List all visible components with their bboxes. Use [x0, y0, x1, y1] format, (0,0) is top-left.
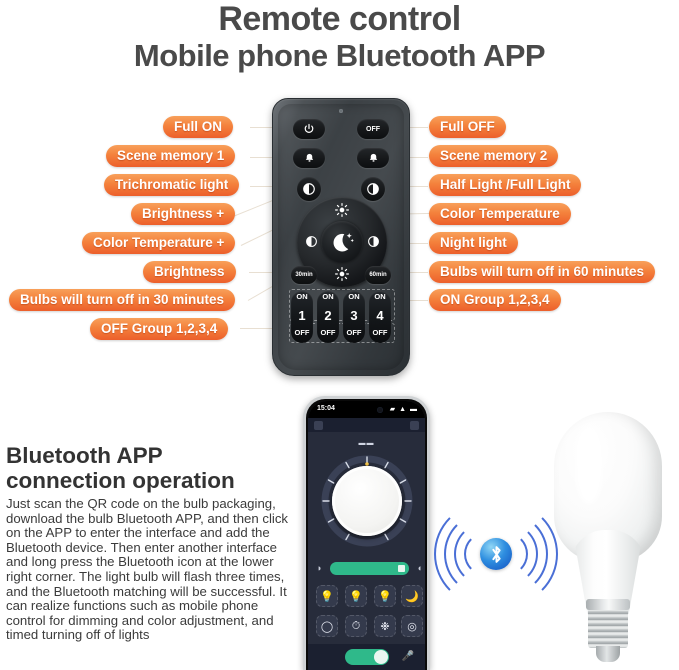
led-light-bulb [549, 412, 667, 664]
bluetooth-signal-graphic [442, 500, 550, 610]
dial-knob[interactable] [332, 466, 402, 536]
group-4-off-label: OFF [369, 328, 391, 337]
scene-memory-1-button[interactable] [293, 148, 325, 168]
callout-off-group-1234[interactable]: OFF Group 1,2,3,4 [90, 318, 228, 340]
section-title: Bluetooth APP connection operation [6, 443, 294, 493]
scene-memory-2-button[interactable] [357, 148, 389, 168]
callout-brightness-up[interactable]: Brightness + [131, 203, 235, 225]
scene-tile-color-wheel[interactable]: ❉ [374, 615, 396, 637]
power-toggle-knob[interactable] [374, 650, 388, 664]
status-bar-icons: ▰ ▲ ▬ [390, 405, 418, 413]
callout-scene-memory-2[interactable]: Scene memory 2 [429, 145, 558, 167]
callout-brightness[interactable]: Brightness [143, 261, 236, 283]
ir-led-indicator [339, 109, 343, 113]
group-button-grid: ON 1 OFF ON 2 OFF ON 3 OFF ON 4 OFF [289, 291, 395, 343]
half-full-light-button[interactable] [361, 177, 385, 201]
app-header-bar [308, 418, 425, 432]
color-temperature-down-icon[interactable] [363, 231, 383, 251]
group-4-on-label: ON [369, 292, 391, 301]
bulb-screw-base [588, 608, 628, 648]
group-3-number: 3 [343, 308, 365, 323]
brightness-slider-track[interactable] [330, 562, 409, 575]
bluetooth-icon [480, 538, 512, 570]
group-3-on-label: ON [343, 292, 365, 301]
scene-tile-grid: 💡 💡 💡 🌙 ◯ ⏱ ❉ ◎ [316, 585, 423, 641]
callout-trichromatic-light[interactable]: Trichromatic light [104, 174, 239, 196]
callout-color-temperature-up[interactable]: Color Temperature + [82, 232, 235, 254]
brightness-low-icon: ◑ [316, 563, 321, 573]
scene-tile-bluetooth-pair[interactable]: ◎ [401, 615, 423, 637]
section-body-text: Just scan the QR code on the bulb packag… [6, 497, 296, 643]
status-bar-clock: 15:04 [317, 405, 335, 412]
remote-control-body: OFF [272, 98, 410, 376]
timer-60min-label: 60min [369, 272, 386, 278]
smartphone-mockup: 15:04 ▰ ▲ ▬ ▬▬ [303, 396, 430, 670]
group-button-1[interactable]: ON 1 OFF [291, 291, 313, 343]
group-4-number: 4 [369, 308, 391, 323]
callout-off-60-minutes[interactable]: Bulbs will turn off in 60 minutes [429, 261, 655, 283]
settings-icon[interactable] [410, 421, 419, 430]
group-button-2[interactable]: ON 2 OFF [317, 291, 339, 343]
page-title-line2: Mobile phone Bluetooth APP [0, 38, 679, 74]
microphone-icon[interactable]: 🎤 [402, 651, 414, 662]
scene-tile-neutral-light[interactable]: 💡 [345, 585, 367, 607]
brightness-slider-row[interactable]: ◑ ◐ [316, 561, 423, 576]
bulb-highlight [576, 426, 602, 504]
dynamic-island [347, 404, 387, 416]
callout-on-group-1234[interactable]: ON Group 1,2,3,4 [429, 289, 561, 311]
brightness-dial[interactable] [320, 454, 414, 548]
group-2-on-label: ON [317, 292, 339, 301]
power-toggle[interactable] [345, 649, 389, 665]
scene-tile-bulb[interactable]: ◯ [316, 615, 338, 637]
brightness-down-icon[interactable] [331, 265, 353, 283]
color-temperature-up-icon[interactable] [301, 231, 321, 251]
callout-full-off[interactable]: Full OFF [429, 116, 506, 138]
phone-bottom-bar: 🎤 [308, 644, 425, 670]
group-3-off-label: OFF [343, 328, 365, 337]
callout-scene-memory-1[interactable]: Scene memory 1 [106, 145, 235, 167]
group-2-off-label: OFF [317, 328, 339, 337]
callout-night-light[interactable]: Night light [429, 232, 518, 254]
night-light-button[interactable] [321, 221, 363, 263]
group-1-off-label: OFF [291, 328, 313, 337]
phone-screen: 15:04 ▰ ▲ ▬ ▬▬ [308, 401, 425, 670]
app-title-label: ▬▬ [308, 440, 425, 447]
status-bar: 15:04 ▰ ▲ ▬ [308, 401, 425, 418]
group-2-number: 2 [317, 308, 339, 323]
brightness-high-icon: ◐ [418, 563, 423, 573]
callout-color-temperature[interactable]: Color Temperature [429, 203, 571, 225]
page-title-line1: Remote control [0, 0, 679, 39]
slider-value-chip [398, 565, 405, 572]
group-1-on-label: ON [291, 292, 313, 301]
scene-tile-night-mode[interactable]: 🌙 [401, 585, 423, 607]
trichromatic-light-button[interactable] [297, 177, 321, 201]
scene-tile-cool-light[interactable]: 💡 [374, 585, 396, 607]
timer-30min-button[interactable]: 30min [291, 266, 317, 284]
group-button-4[interactable]: ON 4 OFF [369, 291, 391, 343]
bulb-base-tip [596, 646, 620, 662]
scene-tile-timer[interactable]: ⏱ [345, 615, 367, 637]
power-off-button[interactable]: OFF [357, 119, 389, 139]
group-button-3[interactable]: ON 3 OFF [343, 291, 365, 343]
callout-off-30-minutes[interactable]: Bulbs will turn off in 30 minutes [9, 289, 235, 311]
menu-icon[interactable] [314, 421, 323, 430]
scene-tile-warm-light[interactable]: 💡 [316, 585, 338, 607]
callout-half-full-light[interactable]: Half Light /Full Light [429, 174, 581, 196]
timer-30min-label: 30min [295, 272, 312, 278]
power-on-button[interactable] [293, 119, 325, 139]
brightness-up-icon[interactable] [331, 201, 353, 219]
group-1-number: 1 [291, 308, 313, 323]
callout-full-on[interactable]: Full ON [163, 116, 233, 138]
timer-60min-button[interactable]: 60min [365, 266, 391, 284]
